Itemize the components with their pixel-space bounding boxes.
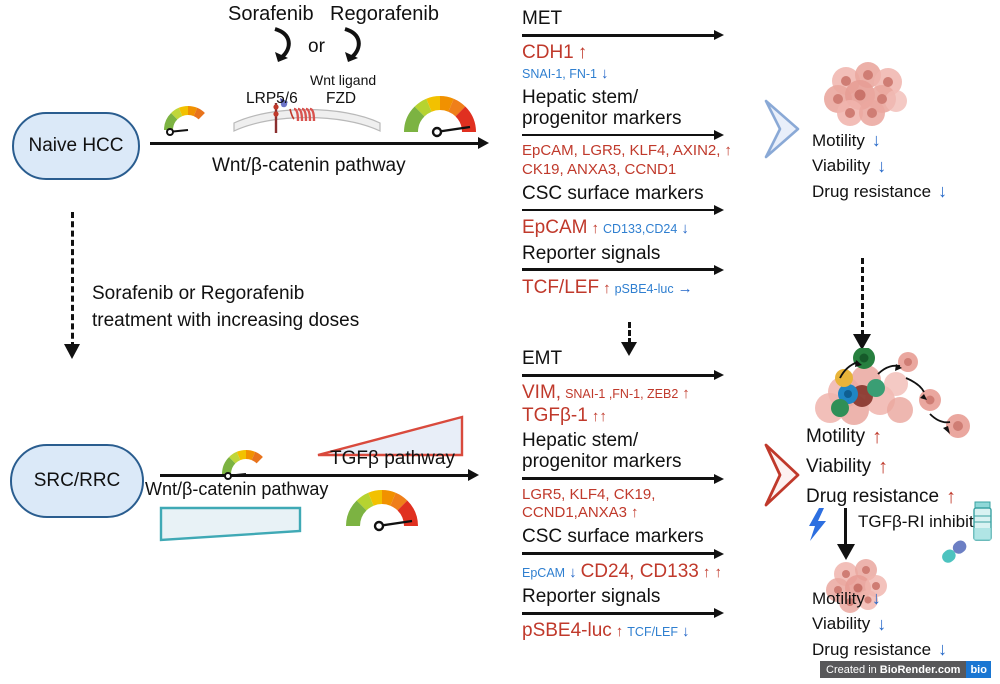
marker-row: EpCAM, LGR5, KLF4, AXIN2,↑ [522, 142, 752, 161]
marker-label: CD133,CD24 [603, 222, 677, 236]
outcome-label: Viability [806, 453, 871, 482]
marker-label: CDH1 [522, 42, 574, 63]
marker-label: CD24, CD133 [581, 561, 699, 582]
capsule-pill-icon [938, 536, 972, 566]
marker-section-heading-line: progenitor markers [522, 451, 752, 472]
marker-section: CSC surface markersEpCAM↓CD24, CD133↑ ↑ [522, 526, 752, 583]
section-underline-arrow [522, 370, 752, 380]
marker-label: TCF/LEF [522, 277, 599, 298]
section-underline-arrow [522, 265, 752, 275]
section-underline-arrow [522, 549, 752, 559]
credit-prefix: Created in [826, 664, 877, 676]
credit-brand: BioRender.com [880, 664, 961, 676]
lrp-label: LRP5/6 [246, 90, 298, 108]
section-underline-arrow [522, 30, 752, 40]
regulation-arrow: → [678, 280, 693, 297]
middle-dashed-line [628, 322, 631, 344]
middle-bottom-marker-list: EMTVIM,SNAI-1 ,FN-1, ZEB2↑TGFβ-1↑↑Hepati… [522, 348, 752, 646]
gauge-low-bottom [218, 440, 274, 480]
fzd-label: FZD [326, 90, 356, 108]
regulation-arrow: ↑ ↑ [703, 564, 722, 581]
marker-label: CCND1,ANXA3 [522, 504, 627, 521]
marker-row: CK19, ANXA3, CCND1 [522, 161, 752, 180]
outcome-row: Motility↑ [806, 422, 956, 452]
outcome-row: Motility↓ [812, 586, 947, 612]
outcome-label: Viability [812, 612, 870, 636]
outcome-row: Viability↑ [806, 452, 956, 482]
marker-section-heading-line: MET [522, 8, 752, 29]
regulation-arrow: ↑ [724, 142, 732, 159]
marker-section: Hepatic stem/progenitor markersLGR5, KLF… [522, 430, 752, 523]
drug-label-sorafenib: Sorafenib [228, 3, 314, 26]
marker-section: EMTVIM,SNAI-1 ,FN-1, ZEB2↑TGFβ-1↑↑ [522, 348, 752, 427]
wnt-pathway-label-bottom: Wnt/β-catenin pathway [145, 479, 328, 500]
outcome-panel-top: Motility↓Viability↓Drug resistance↓ [812, 128, 947, 205]
marker-section-heading-line: Hepatic stem/ [522, 87, 752, 108]
section-underline-arrow [522, 474, 752, 484]
marker-label: SNAI-1, FN-1 [522, 67, 597, 81]
marker-section-heading: Hepatic stem/progenitor markers [522, 430, 752, 473]
wnt-decreasing-wedge [158, 505, 303, 543]
marker-row: LGR5, KLF4, CK19, [522, 486, 752, 505]
pathway-arrow-line-bottom [160, 474, 470, 477]
vial-icon [970, 500, 996, 544]
outcome-row: Viability↓ [812, 154, 947, 180]
middle-top-marker-list: METCDH1↑SNAI-1, FN-1↓Hepatic stem/progen… [522, 8, 752, 302]
marker-section: Reporter signalsTCF/LEF↑pSBE4-luc→ [522, 243, 752, 300]
outcome-label: Motility [812, 129, 865, 153]
regulation-arrow: ↑ [603, 280, 611, 297]
regulation-arrow: ↑↑ [592, 408, 607, 425]
marker-section-heading: Reporter signals [522, 243, 752, 264]
marker-row: TCF/LEF↑pSBE4-luc→ [522, 277, 752, 299]
marker-section-heading-line: CSC surface markers [522, 183, 752, 204]
gauge-high-bottom [340, 478, 424, 532]
wnt-pathway-label-top: Wnt/β-catenin pathway [212, 155, 406, 177]
marker-label: TGFβ-1 [522, 405, 588, 426]
regulation-arrow: ↑ [631, 504, 639, 521]
regulation-arrow: ↑ [682, 385, 690, 402]
regulation-arrow: ↓ [682, 623, 690, 640]
outcome-arrow: ↓ [872, 586, 881, 612]
wnt-pathway-arrow-head-top [478, 137, 489, 149]
outcome-arrow: ↓ [938, 179, 947, 205]
tumor-cluster-top [812, 55, 932, 135]
marker-section-heading-line: progenitor markers [522, 108, 752, 129]
naive-hcc-node: Naive HCC [12, 112, 140, 180]
regulation-arrow: ↓ [601, 65, 609, 82]
marker-label: TCF/LEF [627, 625, 678, 639]
marker-row: pSBE4-luc↑TCF/LEF↓ [522, 620, 752, 642]
marker-label: CK19, ANXA3, CCND1 [522, 161, 676, 178]
marker-label: EpCAM [522, 217, 587, 238]
tgfb-pathway-label: TGFβ pathway [330, 448, 455, 470]
section-underline-arrow [522, 608, 752, 618]
marker-row: CDH1↑ [522, 42, 752, 64]
outcome-label: Motility [806, 423, 865, 452]
marker-section-heading-line: Reporter signals [522, 586, 752, 607]
outcome-arrow: ↓ [877, 612, 886, 638]
marker-section: Hepatic stem/progenitor markersEpCAM, LG… [522, 87, 752, 180]
marker-label: EpCAM [522, 566, 565, 580]
outcome-row: Motility↓ [812, 128, 947, 154]
section-underline-arrow [522, 130, 752, 140]
marker-label: VIM, [522, 382, 561, 403]
outcome-label: Drug resistance [806, 483, 939, 512]
marker-row: TGFβ-1↑↑ [522, 405, 752, 427]
outcome-row: Drug resistance↓ [812, 637, 947, 663]
outcome-arrow: ↓ [877, 154, 886, 180]
marker-section-heading-line: Reporter signals [522, 243, 752, 264]
marker-section-heading-line: Hepatic stem/ [522, 430, 752, 451]
outcome-row: Drug resistance↓ [812, 179, 947, 205]
src-rrc-node: SRC/RRC [10, 444, 144, 518]
outcome-row: Viability↓ [812, 612, 947, 638]
pathway-arrow-head-bottom [468, 469, 479, 481]
lightning-bolt-icon [806, 508, 830, 542]
marker-section-heading: CSC surface markers [522, 183, 752, 204]
marker-section-heading: MET [522, 8, 752, 29]
regulation-arrow: ↑ [591, 220, 599, 237]
marker-row: EpCAM↓CD24, CD133↑ ↑ [522, 561, 752, 583]
outcome-label: Drug resistance [812, 638, 931, 662]
inhibitor-arrow-line [844, 508, 847, 548]
marker-section-heading: Reporter signals [522, 586, 752, 607]
outcome-label: Drug resistance [812, 180, 931, 204]
transition-arrow-head [62, 344, 82, 364]
src-rrc-label: SRC/RRC [34, 470, 121, 492]
regulation-arrow: ↓ [569, 564, 577, 581]
marker-section-heading-line: CSC surface markers [522, 526, 752, 547]
outcome-panel-bottom: Motility↓Viability↓Drug resistance↓ [812, 586, 947, 663]
marker-label: LGR5, KLF4, CK19, [522, 486, 655, 503]
wnt-pathway-arrow-line-top [150, 142, 480, 145]
regulation-arrow: ↓ [681, 220, 689, 237]
middle-dashed-arrow-head [620, 342, 638, 358]
gauge-low-top [160, 96, 216, 136]
marker-section: Reporter signalspSBE4-luc↑TCF/LEF↓ [522, 586, 752, 643]
biorender-logo: bio [966, 661, 991, 678]
marker-row: EpCAM↑CD133,CD24↓ [522, 217, 752, 239]
marker-row: CCND1,ANXA3↑ [522, 504, 752, 523]
outcome-label: Viability [812, 154, 870, 178]
marker-section: METCDH1↑SNAI-1, FN-1↓ [522, 8, 752, 84]
marker-section-heading: Hepatic stem/progenitor markers [522, 87, 752, 130]
marker-label: pSBE4-luc [522, 620, 612, 641]
section-underline-arrow [522, 205, 752, 215]
marker-row: SNAI-1, FN-1↓ [522, 65, 752, 84]
outcome-panel-mid: Motility↑Viability↑Drug resistance↑ [806, 422, 956, 512]
curved-arrow-sorafenib [270, 26, 312, 66]
regulation-arrow: ↑ [616, 623, 624, 640]
chevron-right-red-icon [760, 440, 806, 510]
drug-label-regorafenib: Regorafenib [330, 3, 439, 26]
outcome-label: Motility [812, 587, 865, 611]
outcome-arrow: ↓ [938, 637, 947, 663]
treatment-note-line2: treatment with increasing doses [92, 310, 359, 332]
naive-hcc-label: Naive HCC [28, 135, 123, 157]
chevron-right-blue-icon [760, 96, 806, 162]
marker-section: CSC surface markersEpCAM↑CD133,CD24↓ [522, 183, 752, 240]
gauge-high-top [400, 86, 480, 138]
outcome-arrow: ↑ [878, 452, 888, 482]
marker-section-heading: CSC surface markers [522, 526, 752, 547]
marker-label: SNAI-1 ,FN-1, ZEB2 [565, 387, 678, 401]
marker-label: pSBE4-luc [615, 282, 674, 296]
wnt-ligand-label: Wnt ligand [310, 72, 376, 88]
marker-label: EpCAM, LGR5, KLF4, AXIN2, [522, 142, 720, 159]
biorender-credit: Created in BioRender.com bio [820, 661, 991, 678]
outcome-arrow: ↓ [872, 128, 881, 154]
curved-arrow-regorafenib [340, 26, 382, 66]
transition-dashed-line [71, 212, 74, 348]
outcome-arrow: ↑ [946, 482, 956, 512]
regulation-arrow: ↑ [578, 42, 588, 63]
outcome-arrow: ↑ [872, 422, 882, 452]
treatment-note-line1: Sorafenib or Regorafenib [92, 283, 304, 305]
marker-row: VIM,SNAI-1 ,FN-1, ZEB2↑ [522, 382, 752, 404]
right-dashed-line [861, 258, 864, 336]
